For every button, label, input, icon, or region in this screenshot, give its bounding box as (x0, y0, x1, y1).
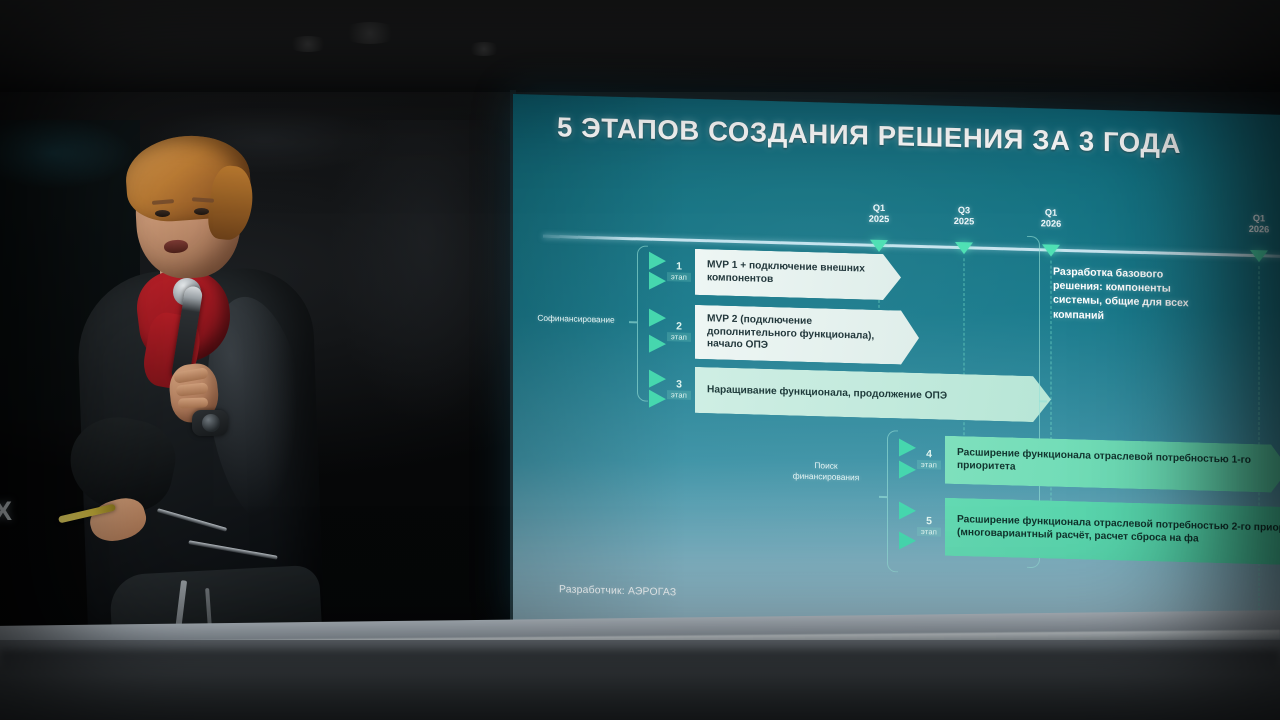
chevron-icon (647, 309, 669, 354)
brace-nub (629, 321, 637, 323)
brace-nub (1039, 400, 1047, 402)
stage-number: 1 этап (667, 261, 691, 282)
stage-banner: Расширение функционала отраслевой потреб… (945, 436, 1280, 493)
ceiling-light-icon (286, 36, 330, 52)
eye (155, 210, 170, 217)
group-label-lower: Поиск финансирования (771, 459, 881, 483)
slide-footer: Разработчик: АЭРОГАЗ (559, 584, 676, 598)
ceiling-light-icon (466, 42, 502, 56)
stage-row: 2 этап MVP 2 (подключение дополнительног… (647, 304, 919, 365)
slide-content: 5 ЭТАПОВ СОЗДАНИЯ РЕШЕНИЯ ЗА 3 ГОДА Q120… (513, 94, 1280, 643)
stage-number: 4 этап (917, 449, 941, 470)
timeline-marker-icon (955, 242, 973, 254)
timeline-marker-icon (1250, 250, 1268, 262)
stage-banner: MVP 2 (подключение дополнительного функц… (695, 305, 919, 365)
stage-floor-shadow (0, 650, 1280, 674)
timeline-marker-icon (1042, 244, 1060, 256)
stage-number: 2 этап (667, 321, 691, 342)
chevron-icon (897, 438, 919, 479)
auditorium-scene: 5 ЭТАПОВ СОЗДАНИЯ РЕШЕНИЯ ЗА 3 ГОДА Q120… (0, 0, 1280, 720)
timeline-tick-label: Q32025 (954, 205, 974, 227)
slide-title: 5 ЭТАПОВ СОЗДАНИЯ РЕШЕНИЯ ЗА 3 ГОДА (557, 111, 1181, 160)
stage-row: 5 этап Расширение функционала отраслевой… (897, 496, 1280, 566)
right-note: Разработка базового решения: компоненты … (1053, 265, 1203, 326)
brace-nub (879, 496, 887, 498)
stage-banner: Расширение функционала отраслевой потреб… (945, 498, 1280, 567)
timeline-tick-label: Q12026 (1041, 207, 1061, 229)
speaker-figure (60, 118, 340, 638)
stage-banner: Наращивание функционала, продолжение ОПЭ (695, 367, 1051, 423)
timeline-marker-icon (870, 240, 888, 252)
finger (178, 397, 208, 408)
chevron-icon (897, 501, 919, 550)
stage-number: 3 этап (667, 379, 691, 400)
stage-row: 3 этап Наращивание функционала, продолже… (647, 366, 1051, 423)
stage-row: 1 этап MVP 1 + подключение внешних компо… (647, 248, 901, 301)
group-label-upper: Софинансирование (521, 312, 631, 325)
stage-banner: MVP 1 + подключение внешних компонентов (695, 249, 901, 301)
stage-row: 4 этап Расширение функционала отраслевой… (897, 434, 1280, 493)
timeline-tick-label: Q12026 (1249, 213, 1269, 235)
ceiling-light-icon (340, 22, 400, 44)
ceiling-panel (0, 0, 1280, 92)
left-edge-glyph: X (0, 496, 24, 526)
watch-face (202, 414, 220, 432)
chevron-icon (647, 252, 669, 291)
ambient-glow (330, 120, 520, 420)
timeline-tick-label: Q12025 (869, 203, 889, 225)
eye (194, 208, 209, 215)
stage-number: 5 этап (917, 516, 941, 537)
chevron-icon (647, 370, 669, 409)
projection-screen: 5 ЭТАПОВ СОЗДАНИЯ РЕШЕНИЯ ЗА 3 ГОДА Q120… (513, 94, 1280, 643)
